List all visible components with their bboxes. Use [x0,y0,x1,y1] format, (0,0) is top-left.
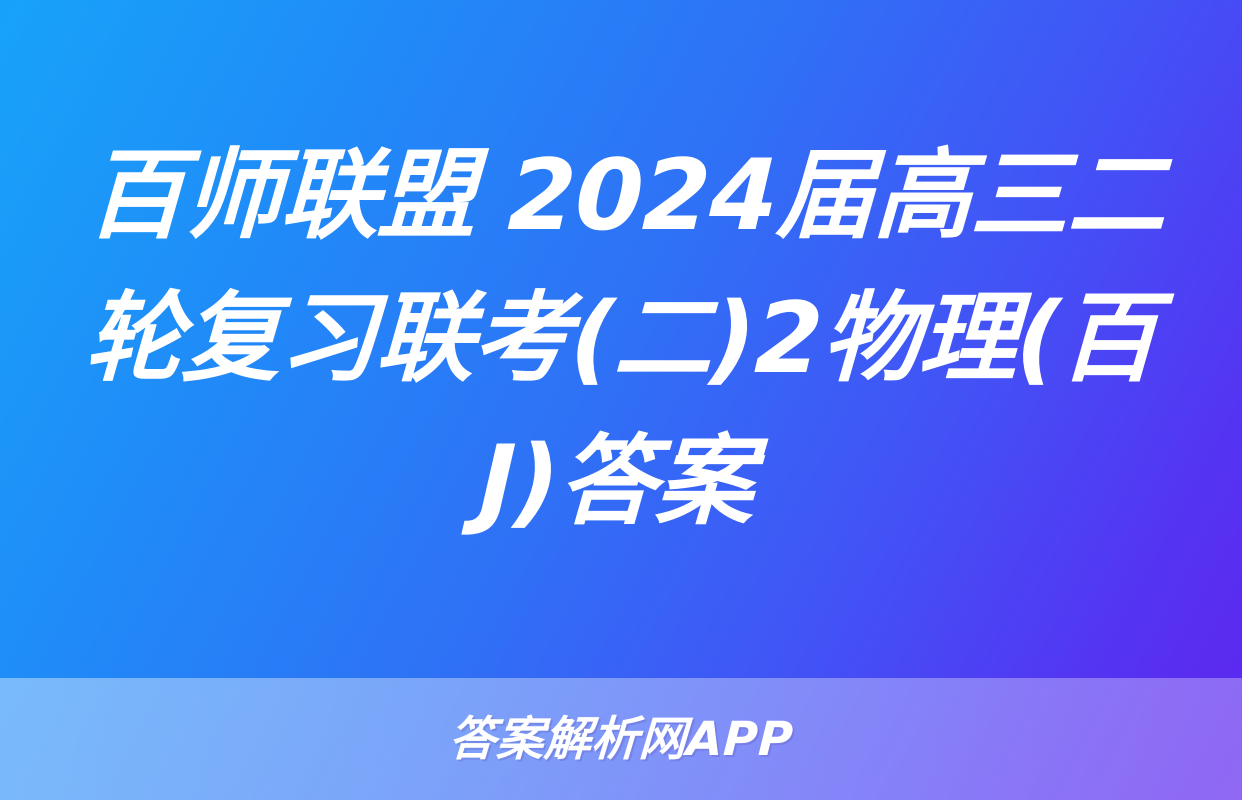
watermark-brand-label: 答案解析网APP [448,716,795,763]
watermark-band: 答案解析网APP [0,678,1242,800]
page-title: 百师联盟 2024届高三二轮复习联考(二)2物理(百J)答案 [69,125,1174,554]
headline-area: 百师联盟 2024届高三二轮复习联考(二)2物理(百J)答案 [0,0,1242,678]
answer-banner: 百师联盟 2024届高三二轮复习联考(二)2物理(百J)答案 答案解析网APP [0,0,1242,800]
